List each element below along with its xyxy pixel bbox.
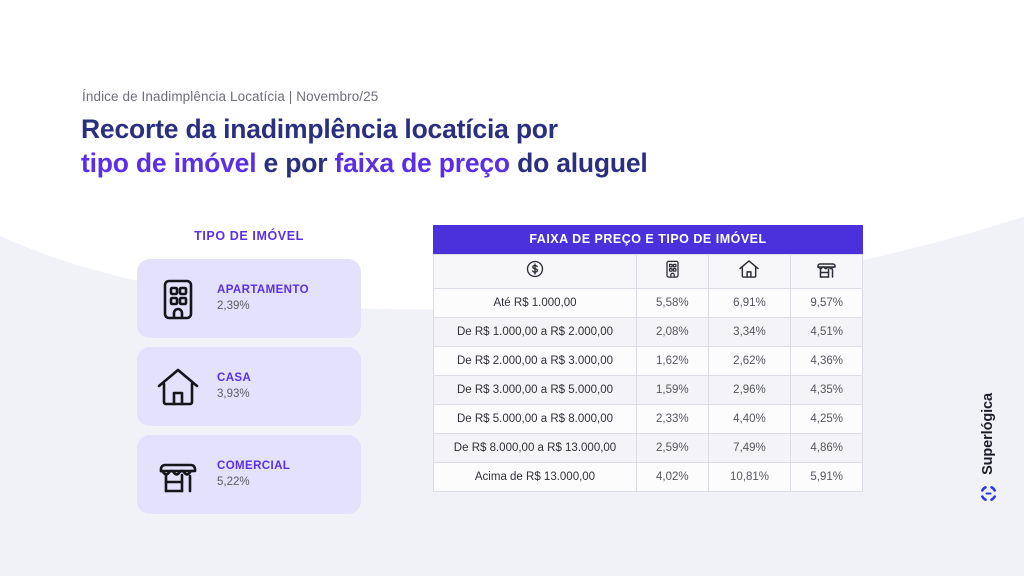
house-icon: [155, 364, 201, 410]
cell-comercial: 9,57%: [791, 289, 863, 318]
table-header-row: [434, 255, 863, 289]
table-row: De R$ 1.000,00 a R$ 2.000,00 2,08% 3,34%…: [434, 318, 863, 347]
headline-text-2: e por: [256, 148, 334, 178]
cell-casa: 2,62%: [708, 347, 791, 376]
price-range-table: FAIXA DE PREÇO E TIPO DE IMÓVEL: [433, 225, 863, 492]
cell-apartamento: 5,58%: [637, 289, 709, 318]
card-label: COMERCIAL: [217, 458, 290, 474]
cell-apartamento: 2,59%: [637, 434, 709, 463]
col-header-comercial: [791, 255, 863, 289]
cell-comercial: 5,91%: [791, 463, 863, 492]
cell-casa: 6,91%: [708, 289, 791, 318]
apartment-building-icon: [155, 276, 201, 322]
card-value: 3,93%: [217, 386, 251, 403]
property-type-panel: TIPO DE IMÓVEL APARTAMENTO 2,39%: [137, 229, 361, 523]
card-comercial-text: COMERCIAL 5,22%: [217, 458, 290, 491]
card-apartamento-text: APARTAMENTO 2,39%: [217, 282, 309, 315]
cell-comercial: 4,86%: [791, 434, 863, 463]
col-header-casa: [708, 255, 791, 289]
table-title: FAIXA DE PREÇO E TIPO DE IMÓVEL: [433, 225, 863, 254]
cell-apartamento: 1,59%: [637, 376, 709, 405]
headline-text-3: do aluguel: [510, 148, 648, 178]
row-label: De R$ 1.000,00 a R$ 2.000,00: [434, 318, 637, 347]
property-type-title: TIPO DE IMÓVEL: [137, 229, 361, 243]
cell-comercial: 4,51%: [791, 318, 863, 347]
headline-accent-tipo: tipo de imóvel: [81, 148, 256, 178]
table-row: Até R$ 1.000,00 5,58% 6,91% 9,57%: [434, 289, 863, 318]
col-header-apartamento: [637, 255, 709, 289]
house-icon: [738, 266, 760, 283]
row-label: Até R$ 1.000,00: [434, 289, 637, 318]
eyebrow-label: Índice de Inadimplência Locatícia | Nove…: [82, 89, 378, 104]
cell-casa: 2,96%: [708, 376, 791, 405]
table-row: De R$ 8.000,00 a R$ 13.000,00 2,59% 7,49…: [434, 434, 863, 463]
table-row: De R$ 3.000,00 a R$ 5.000,00 1,59% 2,96%…: [434, 376, 863, 405]
cell-comercial: 4,35%: [791, 376, 863, 405]
storefront-icon: [815, 266, 838, 283]
row-label: De R$ 5.000,00 a R$ 8.000,00: [434, 405, 637, 434]
card-casa[interactable]: CASA 3,93%: [137, 347, 361, 426]
cell-apartamento: 4,02%: [637, 463, 709, 492]
money-circle-icon: [525, 266, 545, 283]
table-row: De R$ 2.000,00 a R$ 3.000,00 1,62% 2,62%…: [434, 347, 863, 376]
slide-canvas: Índice de Inadimplência Locatícia | Nove…: [0, 0, 1024, 576]
card-value: 2,39%: [217, 298, 309, 315]
cell-apartamento: 2,08%: [637, 318, 709, 347]
superlogica-mark-icon: [979, 484, 998, 508]
row-label: De R$ 2.000,00 a R$ 3.000,00: [434, 347, 637, 376]
card-apartamento[interactable]: APARTAMENTO 2,39%: [137, 259, 361, 338]
cell-comercial: 4,36%: [791, 347, 863, 376]
page-title: Recorte da inadimplência locatícia por t…: [81, 112, 648, 181]
row-label: Acima de R$ 13.000,00: [434, 463, 637, 492]
cell-casa: 3,34%: [708, 318, 791, 347]
table-row: Acima de R$ 13.000,00 4,02% 10,81% 5,91%: [434, 463, 863, 492]
card-casa-text: CASA 3,93%: [217, 370, 251, 403]
card-label: CASA: [217, 370, 251, 386]
cell-casa: 10,81%: [708, 463, 791, 492]
headline-line-2: tipo de imóvel e por faixa de preço do a…: [81, 146, 648, 180]
card-value: 5,22%: [217, 474, 290, 491]
brand-name: Superlógica: [980, 393, 996, 475]
cell-comercial: 4,25%: [791, 405, 863, 434]
row-label: De R$ 8.000,00 a R$ 13.000,00: [434, 434, 637, 463]
headline-text-1: Recorte da inadimplência locatícia por: [81, 114, 558, 144]
apartment-building-icon: [664, 266, 681, 283]
cell-apartamento: 1,62%: [637, 347, 709, 376]
headline-accent-faixa: faixa de preço: [335, 148, 510, 178]
col-header-price: [434, 255, 637, 289]
brand-logo: Superlógica: [968, 393, 1008, 508]
storefront-icon: [155, 452, 201, 498]
data-table: Até R$ 1.000,00 5,58% 6,91% 9,57% De R$ …: [433, 254, 863, 492]
cell-casa: 7,49%: [708, 434, 791, 463]
cell-casa: 4,40%: [708, 405, 791, 434]
card-label: APARTAMENTO: [217, 282, 309, 298]
headline-line-1: Recorte da inadimplência locatícia por: [81, 112, 648, 146]
table-row: De R$ 5.000,00 a R$ 8.000,00 2,33% 4,40%…: [434, 405, 863, 434]
row-label: De R$ 3.000,00 a R$ 5.000,00: [434, 376, 637, 405]
cell-apartamento: 2,33%: [637, 405, 709, 434]
card-comercial[interactable]: COMERCIAL 5,22%: [137, 435, 361, 514]
